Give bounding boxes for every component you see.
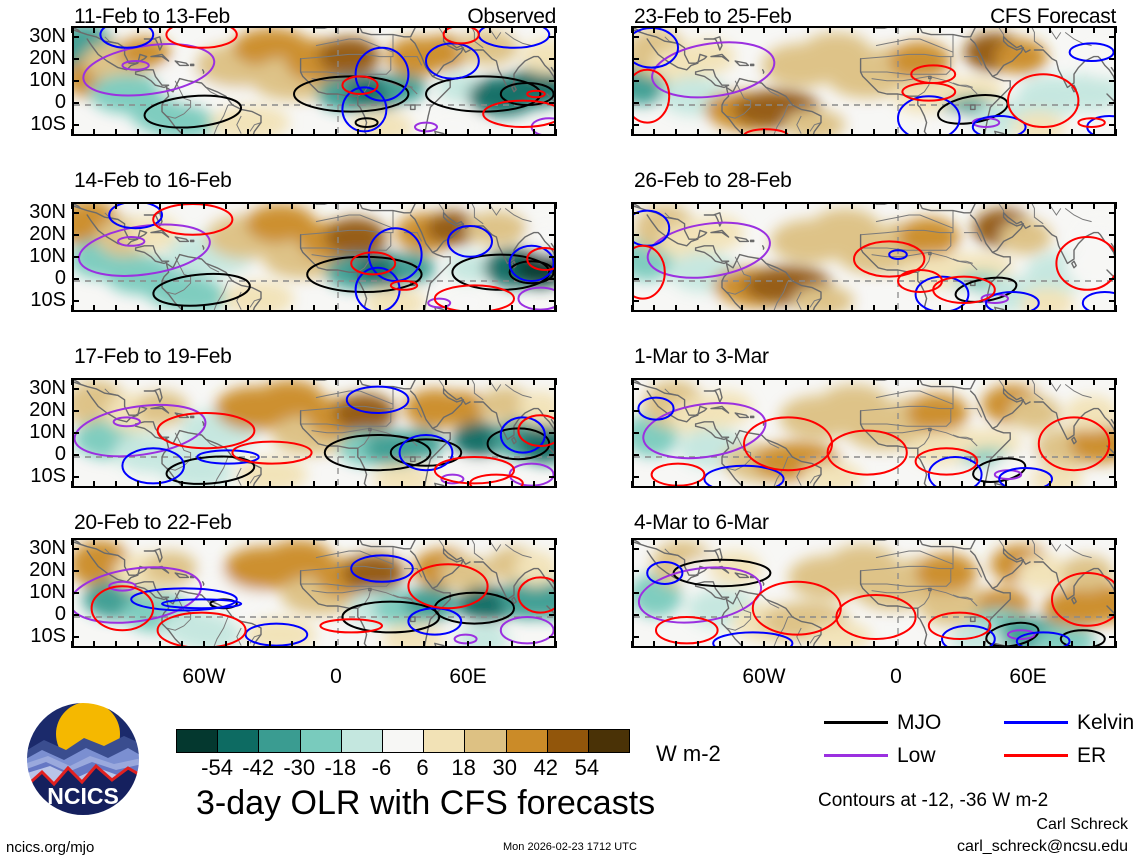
y-tick [632,570,639,572]
x-tick [115,26,117,33]
y-tick [1109,234,1116,236]
x-tick [71,26,73,33]
x-tick [1093,129,1095,136]
y-tick [549,36,556,38]
legend-label: Low [897,745,936,766]
x-tick [917,129,919,136]
x-tick [93,481,95,488]
x-tick [335,481,337,488]
x-tick [1115,305,1117,312]
x-tick [719,641,721,648]
x-tick [203,129,205,136]
x-axis-label: 0 [286,666,386,687]
x-tick [115,129,117,136]
x-tick [467,641,469,648]
map-panel-4 [72,538,556,648]
x-tick [137,305,139,312]
x-tick [829,305,831,312]
x-tick [379,129,381,136]
x-tick [961,538,963,545]
x-tick [851,202,853,209]
y-tick [549,592,556,594]
x-tick [983,641,985,648]
x-axis-label: 60W [714,666,814,687]
x-tick [873,378,875,385]
x-tick [1115,26,1117,33]
x-tick [467,378,469,385]
x-tick [137,538,139,545]
x-tick [159,26,161,33]
x-tick [115,538,117,545]
x-tick [379,538,381,545]
x-tick [785,378,787,385]
x-tick [511,481,513,488]
x-tick [203,26,205,33]
x-tick [335,305,337,312]
panel-title-7: 1-Mar to 3-Mar [634,346,769,367]
x-tick [1049,305,1051,312]
y-axis-label: 30N [8,538,66,558]
x-tick [873,202,875,209]
y-axis-label: 10N [8,246,66,266]
x-tick [939,129,941,136]
x-tick [807,481,809,488]
x-tick [829,202,831,209]
y-tick [549,256,556,258]
x-tick [917,202,919,209]
x-tick [983,26,985,33]
x-tick [71,129,73,136]
y-axis-label: 20N [8,48,66,68]
x-tick [247,538,249,545]
colorbar-swatch [259,730,300,752]
x-tick [159,538,161,545]
x-tick [697,129,699,136]
x-tick [939,305,941,312]
x-tick [533,305,535,312]
x-tick [631,641,633,648]
y-tick [549,410,556,412]
x-tick [357,481,359,488]
x-tick [401,481,403,488]
x-tick [983,481,985,488]
x-tick [423,641,425,648]
y-tick [1109,454,1116,456]
x-tick [741,641,743,648]
x-tick [511,129,513,136]
x-tick [489,305,491,312]
x-tick [741,305,743,312]
x-tick [939,481,941,488]
x-tick [445,26,447,33]
legend-item-low: Low [824,745,936,766]
x-tick [93,378,95,385]
x-tick [653,129,655,136]
y-tick [1109,102,1116,104]
x-tick [1049,129,1051,136]
x-tick [247,641,249,648]
y-tick [1109,476,1116,478]
x-tick [895,202,897,209]
y-tick [72,124,79,126]
y-axis-label: 20N [8,400,66,420]
x-tick [93,305,95,312]
y-tick [1109,58,1116,60]
y-tick [72,476,79,478]
panel-title-3: 17-Feb to 19-Feb [74,346,231,367]
x-tick [675,26,677,33]
x-tick [763,305,765,312]
x-tick [401,26,403,33]
x-tick [1071,129,1073,136]
x-tick [467,538,469,545]
x-tick [291,641,293,648]
x-tick [137,378,139,385]
map-panel-1 [72,26,556,136]
x-tick [1027,378,1029,385]
y-tick [632,592,639,594]
x-tick [1071,538,1073,545]
x-tick [1071,26,1073,33]
y-tick [72,234,79,236]
legend-item-kelvin-x2: Kelvin x2 [1004,712,1135,733]
ncics-logo-graphic: NCICS [24,700,142,818]
x-tick [445,202,447,209]
x-tick [1005,129,1007,136]
x-tick [489,202,491,209]
x-tick [983,202,985,209]
y-tick [549,234,556,236]
y-tick [632,476,639,478]
y-tick [632,102,639,104]
x-tick [697,538,699,545]
x-tick [555,305,557,312]
colorbar-swatch [342,730,383,752]
x-tick [653,538,655,545]
x-tick [939,538,941,545]
x-tick [379,26,381,33]
y-axis-label: 10S [8,626,66,646]
x-tick [423,129,425,136]
x-tick [159,305,161,312]
legend-line-swatch [1004,754,1068,757]
colorbar-swatch [548,730,589,752]
x-tick [181,481,183,488]
x-tick [1049,481,1051,488]
x-tick [895,378,897,385]
x-tick [489,378,491,385]
x-tick [181,641,183,648]
x-tick [829,129,831,136]
x-tick [961,305,963,312]
x-tick [763,202,765,209]
x-tick [631,305,633,312]
x-tick [1005,481,1007,488]
x-tick [137,129,139,136]
x-tick [1093,481,1095,488]
x-tick [741,26,743,33]
y-axis-label: 10N [8,582,66,602]
x-tick [939,378,941,385]
x-tick [203,641,205,648]
legend-item-er: ER [1004,745,1106,766]
x-tick [1005,538,1007,545]
y-tick [72,548,79,550]
x-tick [401,538,403,545]
x-tick [423,378,425,385]
x-tick [555,378,557,385]
x-tick [697,202,699,209]
y-tick [549,636,556,638]
x-tick [653,481,655,488]
panel-title-6: 26-Feb to 28-Feb [634,170,791,191]
x-tick [675,641,677,648]
x-tick [719,378,721,385]
x-tick [489,641,491,648]
x-tick [1049,641,1051,648]
x-tick [1005,26,1007,33]
y-tick [1109,124,1116,126]
x-tick [159,129,161,136]
x-tick [247,481,249,488]
y-tick [72,410,79,412]
x-tick [533,129,535,136]
x-tick [225,26,227,33]
map-panel-3 [72,378,556,488]
x-tick [763,129,765,136]
x-tick [1115,378,1117,385]
x-tick [291,202,293,209]
x-tick [785,641,787,648]
x-axis-label: 60W [154,666,254,687]
x-tick [829,538,831,545]
x-tick [785,538,787,545]
y-axis-label: 0 [8,444,66,464]
y-tick [1109,614,1116,616]
x-tick [511,26,513,33]
y-tick [72,278,79,280]
colorbar-swatch [589,730,629,752]
x-tick [807,378,809,385]
x-axis-label: 60E [418,666,518,687]
y-tick [1109,548,1116,550]
x-tick [851,481,853,488]
x-tick [1093,641,1095,648]
x-tick [445,538,447,545]
map-panel-5 [632,26,1116,136]
x-tick [675,129,677,136]
x-tick [873,305,875,312]
x-tick [445,129,447,136]
y-tick [72,454,79,456]
x-tick [631,202,633,209]
x-tick [115,202,117,209]
x-tick [851,538,853,545]
y-tick [549,570,556,572]
y-axis-label: 0 [8,268,66,288]
y-tick [1109,36,1116,38]
x-tick [533,26,535,33]
x-tick [269,378,271,385]
x-tick [851,641,853,648]
x-tick [1049,378,1051,385]
x-tick [741,129,743,136]
x-tick [313,305,315,312]
y-tick [549,476,556,478]
x-axis-label: 0 [846,666,946,687]
legend-label: MJO [897,712,941,733]
x-tick [555,641,557,648]
x-tick [851,129,853,136]
x-tick [807,305,809,312]
x-tick [467,129,469,136]
x-tick [555,202,557,209]
x-tick [269,538,271,545]
x-tick [719,202,721,209]
x-tick [961,378,963,385]
y-tick [72,80,79,82]
x-tick [489,26,491,33]
x-tick [697,305,699,312]
y-tick [1109,80,1116,82]
x-tick [225,538,227,545]
x-tick [1093,305,1095,312]
x-tick [379,481,381,488]
x-tick [763,26,765,33]
x-tick [313,26,315,33]
x-tick [181,26,183,33]
x-tick [873,641,875,648]
x-tick [445,305,447,312]
x-tick [873,481,875,488]
x-tick [763,641,765,648]
x-tick [917,538,919,545]
x-tick [269,129,271,136]
x-tick [675,305,677,312]
x-tick [225,129,227,136]
x-tick [357,641,359,648]
x-tick [93,129,95,136]
site-url: ncics.org/mjo [6,840,94,855]
y-tick [549,212,556,214]
x-tick [533,202,535,209]
y-axis-label: 0 [8,604,66,624]
y-tick [549,388,556,390]
y-tick [632,636,639,638]
y-tick [632,124,639,126]
y-tick [549,300,556,302]
y-tick [1109,410,1116,412]
x-tick [401,202,403,209]
x-tick [137,481,139,488]
y-tick [632,36,639,38]
colorbar-swatch [218,730,259,752]
x-tick [555,538,557,545]
x-tick [467,481,469,488]
x-tick [719,481,721,488]
x-tick [1005,378,1007,385]
y-tick [72,388,79,390]
x-tick [873,538,875,545]
x-tick [313,202,315,209]
legend-label: ER [1077,745,1106,766]
y-axis-label: 30N [8,202,66,222]
x-tick [895,305,897,312]
x-tick [181,538,183,545]
y-tick [632,432,639,434]
x-tick [917,305,919,312]
x-tick [939,26,941,33]
colorbar [176,729,630,753]
x-tick [225,202,227,209]
y-tick [1109,256,1116,258]
x-tick [313,481,315,488]
x-tick [489,538,491,545]
x-tick [983,378,985,385]
x-tick [1071,202,1073,209]
x-tick [851,305,853,312]
y-axis-label: 0 [8,92,66,112]
x-tick [203,378,205,385]
panel-title-4: 20-Feb to 22-Feb [74,512,231,533]
x-tick [961,481,963,488]
x-tick [225,481,227,488]
x-tick [93,538,95,545]
x-tick [423,305,425,312]
x-tick [93,641,95,648]
x-tick [719,26,721,33]
y-tick [1109,636,1116,638]
legend-label: Kelvin x2 [1077,712,1135,733]
x-tick [203,305,205,312]
x-tick [785,481,787,488]
x-tick [555,26,557,33]
x-tick [653,202,655,209]
y-tick [549,58,556,60]
timestamp: Mon 2026-02-23 1712 UTC [503,842,637,853]
author-email: carl_schreck@ncsu.edu [900,838,1128,856]
x-tick [785,26,787,33]
x-tick [181,129,183,136]
x-tick [71,481,73,488]
y-tick [632,388,639,390]
y-tick [632,256,639,258]
x-tick [313,378,315,385]
page-title: 3-day OLR with CFS forecasts [196,786,655,820]
x-tick [313,641,315,648]
x-tick [939,202,941,209]
x-tick [1027,481,1029,488]
y-tick [632,278,639,280]
x-tick [181,202,183,209]
x-tick [675,378,677,385]
x-tick [763,538,765,545]
x-tick [291,129,293,136]
x-tick [225,378,227,385]
x-tick [489,481,491,488]
y-tick [72,36,79,38]
map-panel-7 [632,378,1116,488]
x-tick [335,202,337,209]
x-tick [313,129,315,136]
y-tick [72,570,79,572]
y-axis-label: 30N [8,378,66,398]
x-tick [159,481,161,488]
x-tick [379,305,381,312]
x-tick [159,378,161,385]
x-tick [357,202,359,209]
x-tick [1005,641,1007,648]
